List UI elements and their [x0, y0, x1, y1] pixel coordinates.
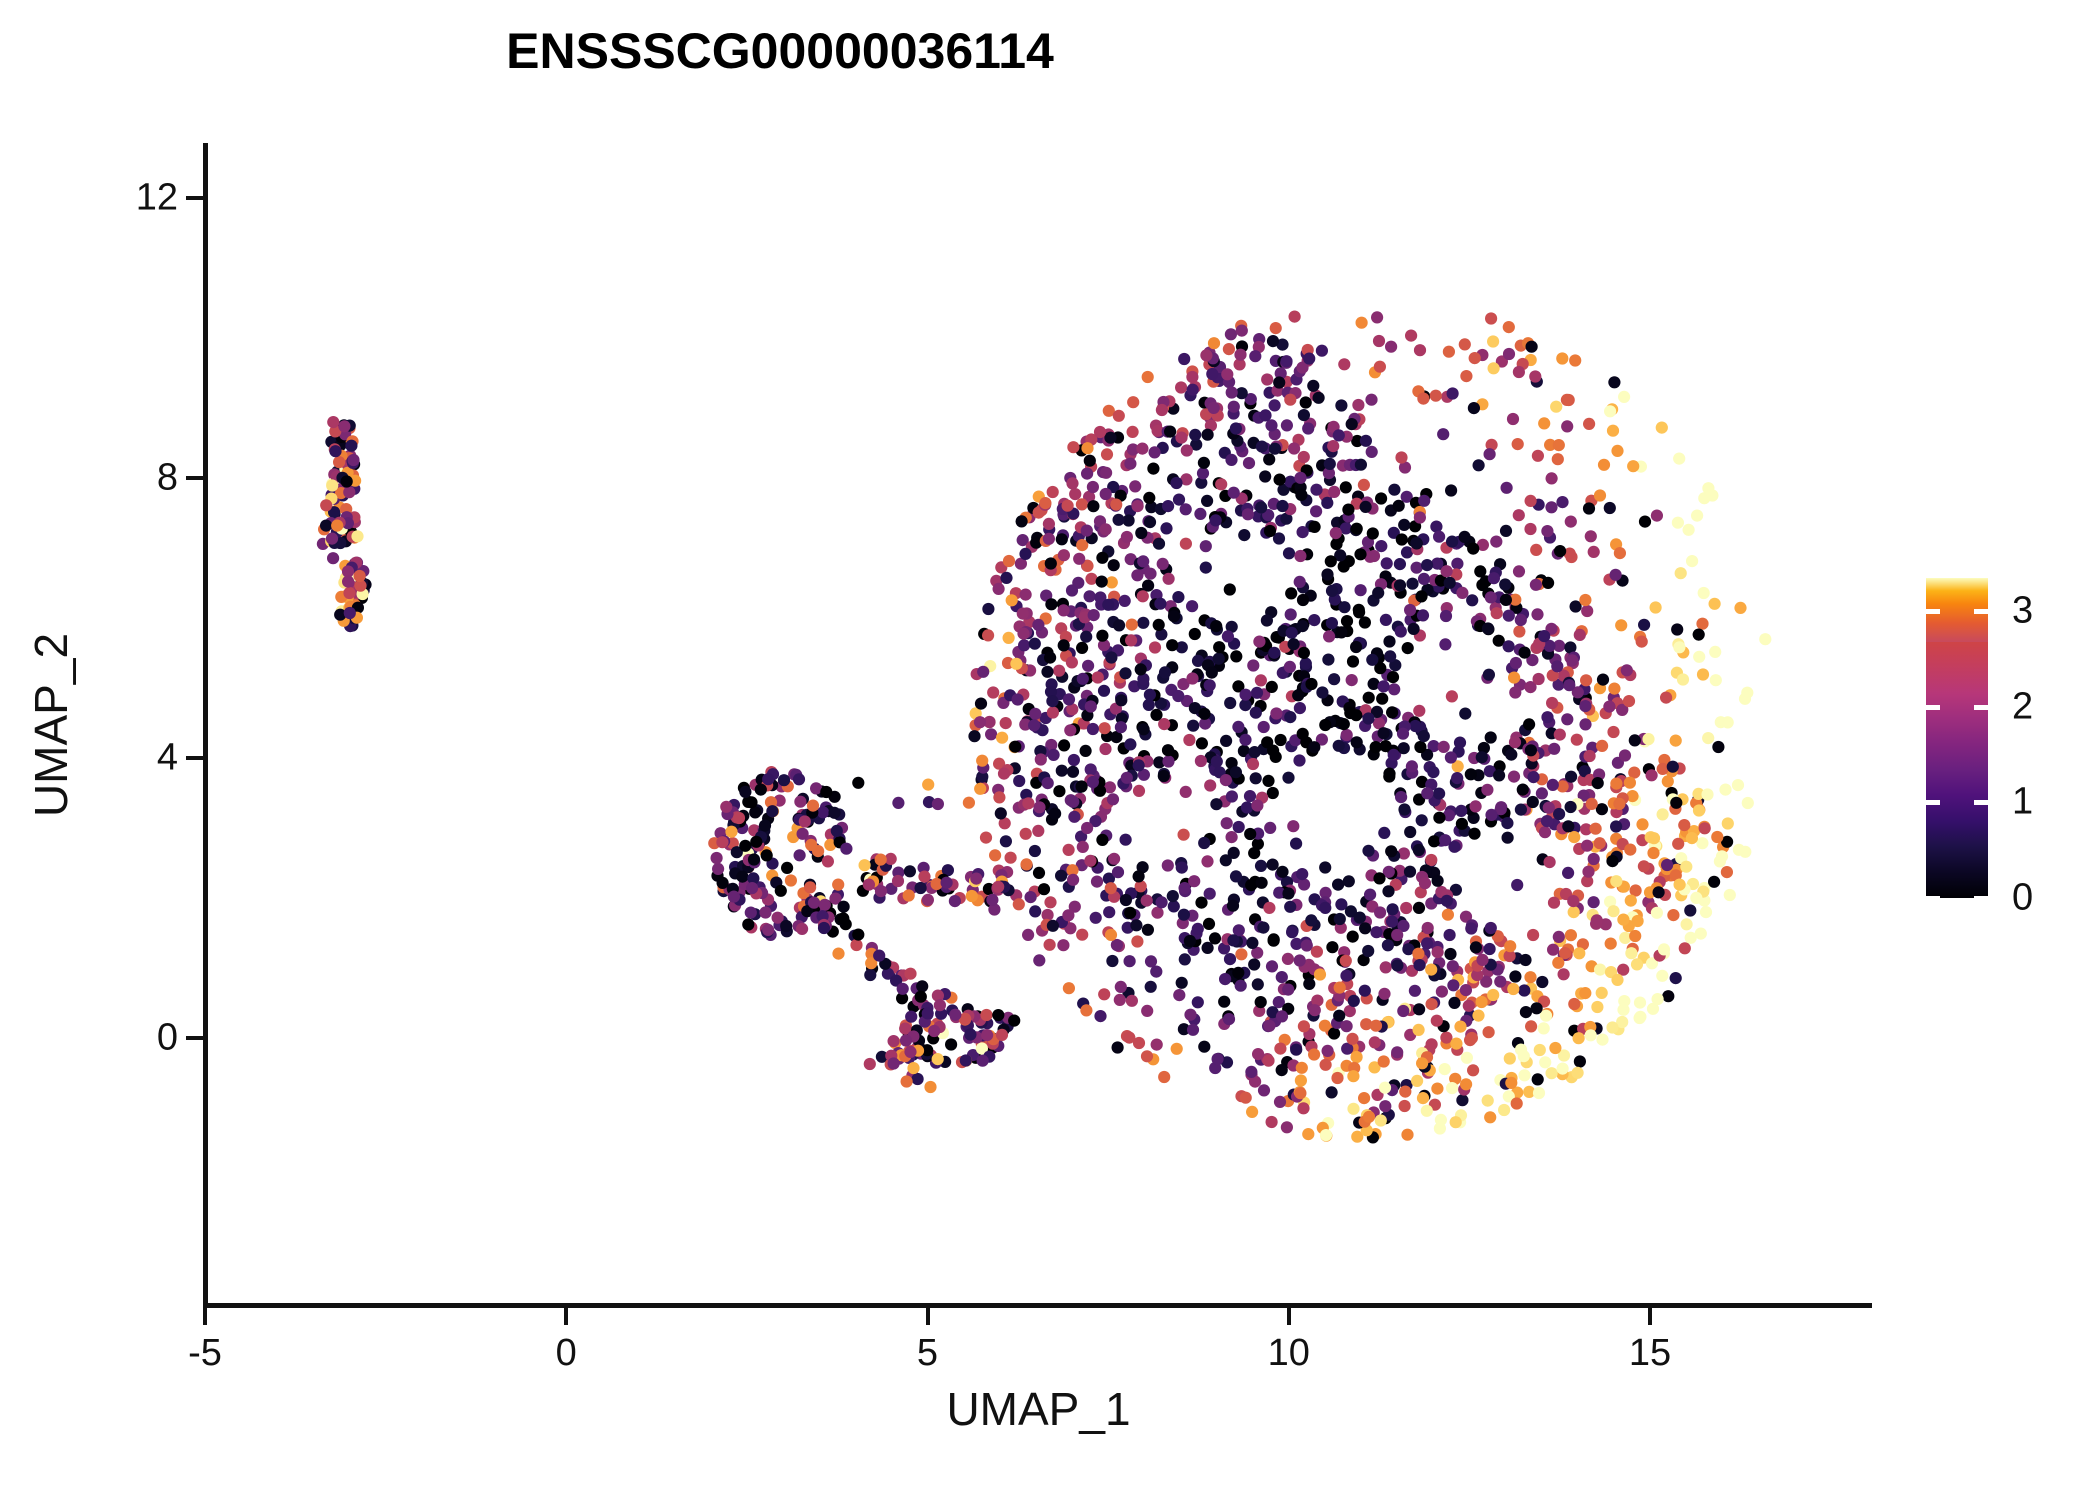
colorbar-tick-mark	[1974, 705, 1988, 710]
colorbar-tick-mark	[1926, 609, 1940, 614]
colorbar-tick-mark	[1926, 800, 1940, 805]
scatter-points-layer	[0, 0, 2100, 1500]
x-tick-mark	[1648, 1308, 1652, 1325]
colorbar-tick-mark	[1926, 705, 1940, 710]
colorbar-tick-mark	[1974, 896, 1988, 901]
x-tick-label: 0	[496, 1332, 636, 1375]
colorbar-gradient	[1926, 578, 1988, 898]
x-axis-line	[203, 1303, 1872, 1308]
colorbar-legend: 0123	[1926, 578, 1988, 898]
x-tick-label: 5	[858, 1332, 998, 1375]
x-axis-label: UMAP_1	[205, 1382, 1872, 1436]
colorbar-tick-label: 3	[2012, 590, 2033, 633]
chart-canvas: ENSSSCG00000036114 UMAP_1 UMAP_2 0123 04…	[0, 0, 2100, 1500]
colorbar-tick-label: 1	[2012, 781, 2033, 824]
y-tick-label: 4	[0, 737, 202, 780]
y-axis-line	[203, 143, 208, 1307]
y-tick-label: 12	[0, 177, 202, 220]
page-title: ENSSSCG00000036114	[0, 22, 1560, 80]
x-tick-label: -5	[135, 1332, 275, 1375]
x-tick-mark	[564, 1308, 568, 1325]
y-axis-label: UMAP_2	[24, 633, 78, 817]
x-tick-mark	[1287, 1308, 1291, 1325]
colorbar-tick-label: 0	[2012, 877, 2033, 920]
colorbar-tick-mark	[1974, 609, 1988, 614]
y-tick-label: 0	[0, 1017, 202, 1060]
colorbar-tick-mark	[1974, 800, 1988, 805]
x-tick-label: 10	[1219, 1332, 1359, 1375]
x-tick-mark	[203, 1308, 207, 1325]
x-tick-mark	[926, 1308, 930, 1325]
colorbar-tick-mark	[1926, 896, 1940, 901]
colorbar-tick-label: 2	[2012, 685, 2033, 728]
x-tick-label: 15	[1580, 1332, 1720, 1375]
y-tick-label: 8	[0, 457, 202, 500]
